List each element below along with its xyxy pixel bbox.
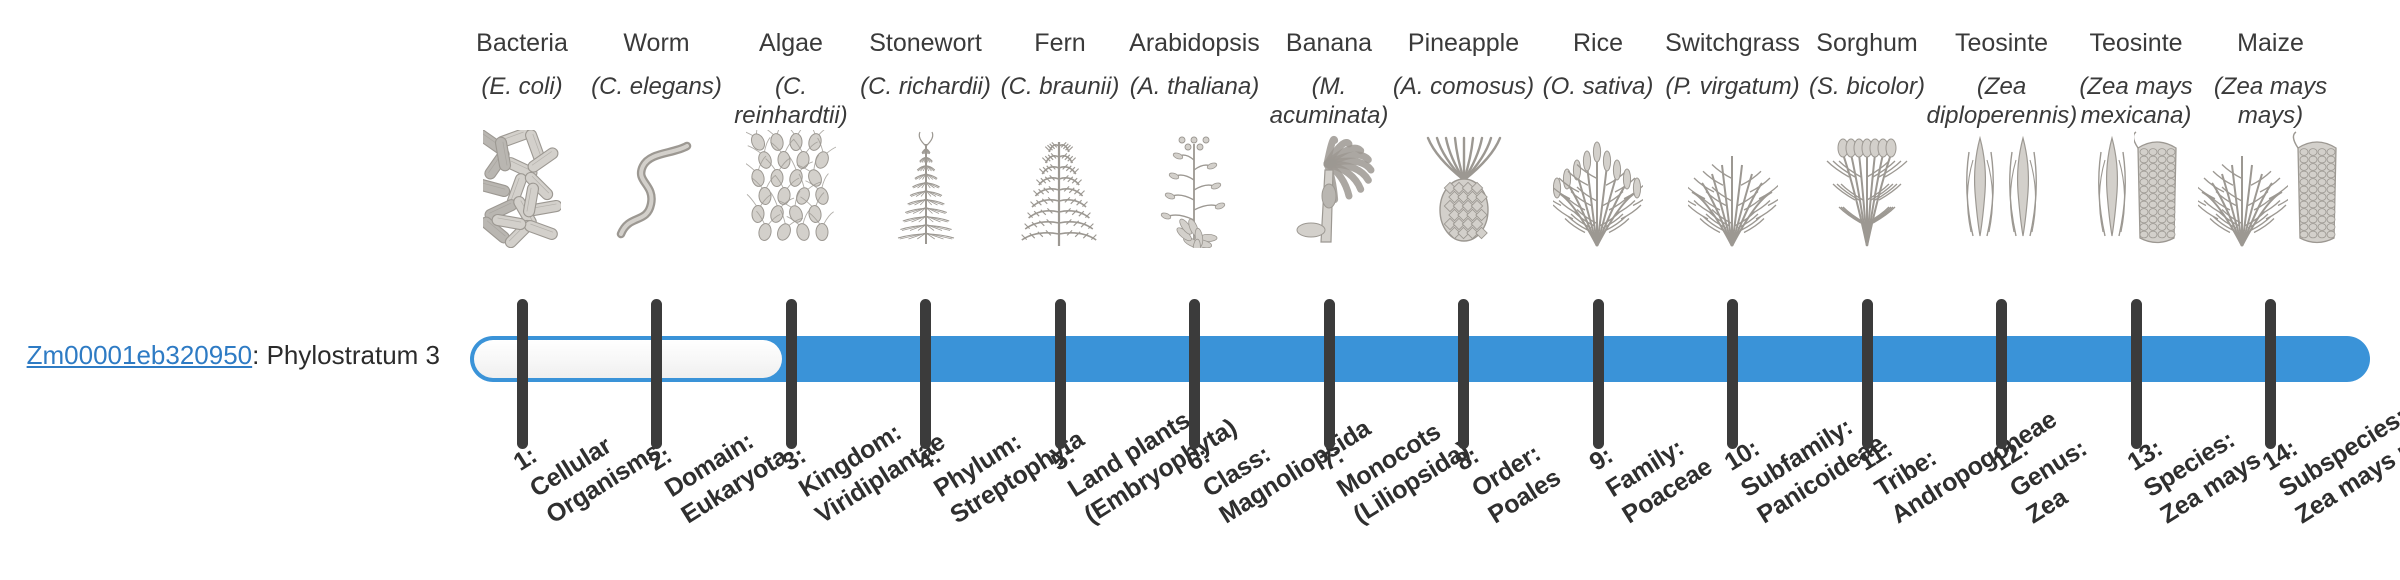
algae-illustration [716, 136, 866, 248]
organism-scientific-name: (C. elegans) [582, 72, 732, 132]
fern-illustration [1015, 130, 1105, 248]
organism-column-12: Teosinte (Zea diploperennis) [1927, 28, 2077, 248]
organism-scientific-name: (C. richardii) [851, 72, 1001, 132]
pineapple-illustration [1421, 130, 1507, 248]
organism-common-name: Rice [1523, 28, 1673, 60]
organism-column-14: Maize (Zea mays mays) [2196, 28, 2346, 248]
phylostratum-tick-8 [1458, 299, 1469, 449]
worm-illustration [582, 136, 732, 248]
sorghum-illustration [1792, 136, 1942, 248]
organism-scientific-name: (Zea diploperennis) [1927, 72, 2077, 132]
organism-scientific-name: (A. thaliana) [1120, 72, 1270, 132]
organism-scientific-name: (O. sativa) [1523, 72, 1673, 132]
organism-common-name: Algae [716, 28, 866, 60]
teosinte-mexicana-illustration [2061, 136, 2211, 248]
organism-scientific-name: (C. reinhardtii) [716, 72, 866, 132]
phylostratum-tick-13 [2131, 299, 2142, 449]
organism-common-name: Arabidopsis [1120, 28, 1270, 60]
phylostratum-tick-5 [1055, 299, 1066, 449]
sorghum-illustration [1823, 130, 1911, 248]
teosinte-mexicana-illustration [2093, 130, 2131, 248]
organism-common-name: Maize [2196, 28, 2346, 60]
phylostratum-tick-1 [517, 299, 528, 449]
organism-common-name: Teosinte [1927, 28, 2077, 60]
organism-common-name: Bacteria [447, 28, 597, 60]
phylostratum-tick-10 [1727, 299, 1738, 449]
teosinte-diploperennis-illustration-b [2003, 130, 2043, 248]
organism-common-name: Worm [582, 28, 732, 60]
phylostratum-tick-11 [1862, 299, 1873, 449]
algae-illustration [746, 130, 836, 248]
gene-id-link[interactable]: Zm00001eb320950 [27, 340, 253, 370]
organism-column-9: Rice (O. sativa) [1523, 28, 1673, 248]
bacteria-illustration [447, 136, 597, 248]
organism-column-2: Worm (C. elegans) [582, 28, 732, 248]
phylostratum-tick-9 [1593, 299, 1604, 449]
switchgrass-illustration [1688, 130, 1778, 248]
organism-common-name: Stonewort [851, 28, 1001, 60]
organism-common-name: Switchgrass [1658, 28, 1808, 60]
organism-scientific-name: (M. acuminata) [1254, 72, 1404, 132]
banana-illustration [1281, 130, 1377, 248]
maize-cob-illustration [2291, 130, 2343, 248]
organism-column-11: Sorghum (S. bicolor) [1792, 28, 1942, 248]
organism-column-5: Fern (C. braunii) [985, 28, 1135, 248]
worm-illustration [609, 138, 705, 248]
phylostratum-track[interactable] [470, 336, 2370, 382]
maize-illustration [2196, 136, 2346, 248]
organism-scientific-name: (Zea mays mays) [2196, 72, 2346, 132]
gene-phylostratum-label: Zm00001eb320950: Phylostratum 3 [0, 340, 440, 371]
arabidopsis-illustration [1152, 130, 1238, 248]
organism-scientific-name: (E. coli) [447, 72, 597, 132]
organism-common-name: Pineapple [1389, 28, 1539, 60]
organism-column-13: Teosinte (Zea mays mexicana) [2061, 28, 2211, 248]
organism-scientific-name: (Zea mays mexicana) [2061, 72, 2211, 132]
maize-plant-illustration [2198, 130, 2288, 248]
rice-illustration [1523, 136, 1673, 248]
switchgrass-illustration [1658, 136, 1808, 248]
teosinte-mexicana-illustration-b [2134, 130, 2180, 248]
organism-scientific-name: (C. braunii) [985, 72, 1135, 132]
banana-illustration [1254, 136, 1404, 248]
organism-common-name: Fern [985, 28, 1135, 60]
phylostratum-tick-14 [2265, 299, 2276, 449]
organism-column-7: Banana (M. acuminata) [1254, 28, 1404, 248]
organism-scientific-name: (A. comosus) [1389, 72, 1539, 132]
phylostratigraphy-figure: Zm00001eb320950: Phylostratum 3 Bacteria… [0, 0, 2400, 580]
organism-common-name: Sorghum [1792, 28, 1942, 60]
bacteria-illustration [483, 130, 561, 248]
organism-column-10: Switchgrass (P. virgatum) [1658, 28, 1808, 248]
stonewort-illustration [884, 130, 968, 248]
pineapple-illustration [1389, 136, 1539, 248]
organism-common-name: Teosinte [2061, 28, 2211, 60]
organism-column-1: Bacteria (E. coli) [447, 28, 597, 248]
gene-label-separator: : [252, 340, 266, 370]
organism-scientific-name: (P. virgatum) [1658, 72, 1808, 132]
phylostratum-tick-2 [651, 299, 662, 449]
phylostratum-tick-6 [1189, 299, 1200, 449]
teosinte-diploperennis-illustration [1960, 130, 2000, 248]
organism-column-6: Arabidopsis (A. thaliana) [1120, 28, 1270, 248]
organism-column-3: Algae (C. reinhardtii) [716, 28, 866, 248]
phylostratum-tick-7 [1324, 299, 1335, 449]
arabidopsis-illustration [1120, 136, 1270, 248]
phylostratum-tick-12 [1996, 299, 2007, 449]
organism-scientific-name: (S. bicolor) [1792, 72, 1942, 132]
fern-illustration [985, 136, 1135, 248]
gene-phylostratum-value: Phylostratum 3 [267, 340, 440, 370]
teosinte-diploperennis-illustration [1927, 136, 2077, 248]
phylostratum-tick-4 [920, 299, 931, 449]
organism-column-4: Stonewort (C. richardii) [851, 28, 1001, 248]
stonewort-illustration [851, 136, 1001, 248]
organism-common-name: Banana [1254, 28, 1404, 60]
phylostratum-tick-3 [786, 299, 797, 449]
organism-column-8: Pineapple (A. comosus) [1389, 28, 1539, 248]
rice-illustration [1553, 130, 1643, 248]
